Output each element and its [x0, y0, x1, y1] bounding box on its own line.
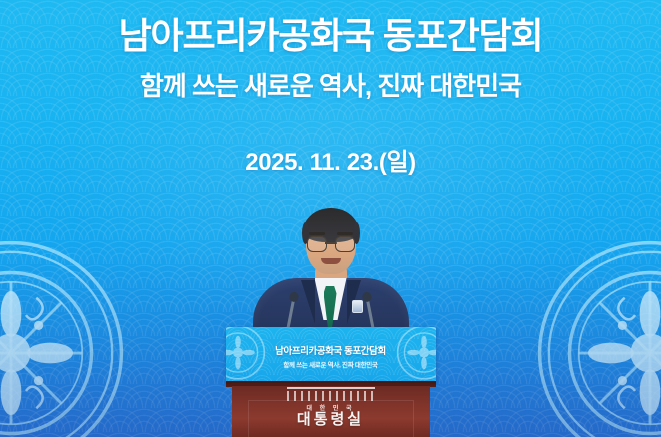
podium-sign: 남아프리카공화국 동포간담회 함께 쓰는 새로운 역사, 진짜 대한민국	[226, 327, 436, 383]
emblem-office-label: 대통령실	[271, 412, 391, 429]
event-title: 남아프리카공화국 동포간담회	[0, 14, 661, 58]
event-date: 2025. 11. 23.(일)	[0, 142, 661, 177]
podium-title: 남아프리카공화국 동포간담회	[226, 343, 436, 357]
suit-lapel-left	[301, 280, 315, 324]
event-photo: 남아프리카공화국 동포간담회 함께 쓰는 새로운 역사, 진짜 대한민국 202…	[0, 0, 661, 437]
event-title-block: 남아프리카공화국 동포간담회 함께 쓰는 새로운 역사, 진짜 대한민국 202…	[0, 14, 661, 177]
speaker-mouth	[321, 258, 341, 264]
podium: 남아프리카공화국 동포간담회 함께 쓰는 새로운 역사, 진짜 대한민국 대 한…	[226, 327, 436, 437]
lapel-pin-icon	[352, 300, 363, 313]
presidential-office-emblem: 대 한 민 국 대통령실	[271, 387, 391, 429]
glasses-icon	[307, 236, 355, 250]
podium-subtitle: 함께 쓰는 새로운 역사, 진짜 대한민국	[226, 359, 436, 369]
gyeongbokgung-gate-icon	[287, 387, 375, 401]
speaker-brow-left	[309, 232, 325, 235]
speaker-brow-right	[337, 232, 353, 235]
event-subtitle: 함께 쓰는 새로운 역사, 진짜 대한민국	[0, 70, 661, 104]
speaker-figure	[251, 212, 411, 342]
